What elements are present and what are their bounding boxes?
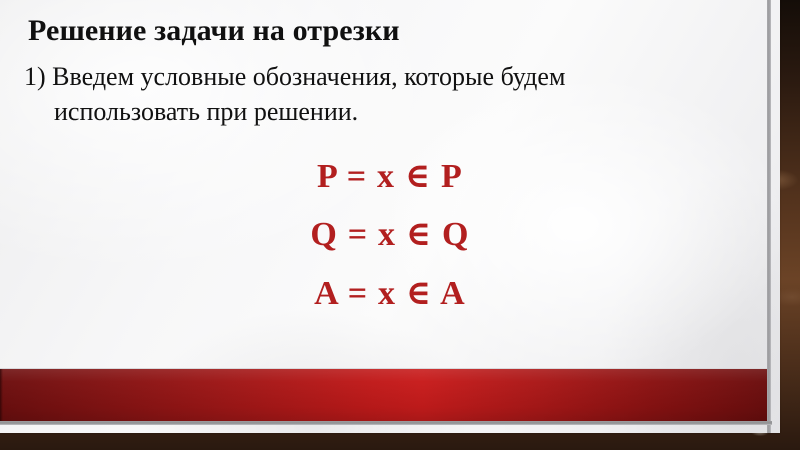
banner-left-shadow bbox=[0, 369, 3, 422]
slide-body-text: 1) Введем условные обозначения, которые … bbox=[24, 60, 730, 129]
body-line-1: 1) Введем условные обозначения, которые … bbox=[24, 60, 730, 95]
body-line-2: использовать при решении. bbox=[24, 95, 730, 130]
formula-p: P = x ∈ P bbox=[0, 148, 780, 206]
formula-list: P = x ∈ P Q = x ∈ Q A = x ∈ A bbox=[0, 148, 780, 323]
bottom-red-banner bbox=[0, 368, 768, 422]
frame-rule-right bbox=[767, 0, 771, 433]
presentation-slide: Решение задачи на отрезки 1) Введем усло… bbox=[0, 0, 780, 433]
formula-a: A = x ∈ A bbox=[0, 265, 780, 323]
slide-title: Решение задачи на отрезки bbox=[28, 14, 728, 48]
banner-sheen-overlay bbox=[0, 369, 768, 422]
formula-q: Q = x ∈ Q bbox=[0, 206, 780, 264]
frame-rule-bottom bbox=[0, 421, 772, 425]
